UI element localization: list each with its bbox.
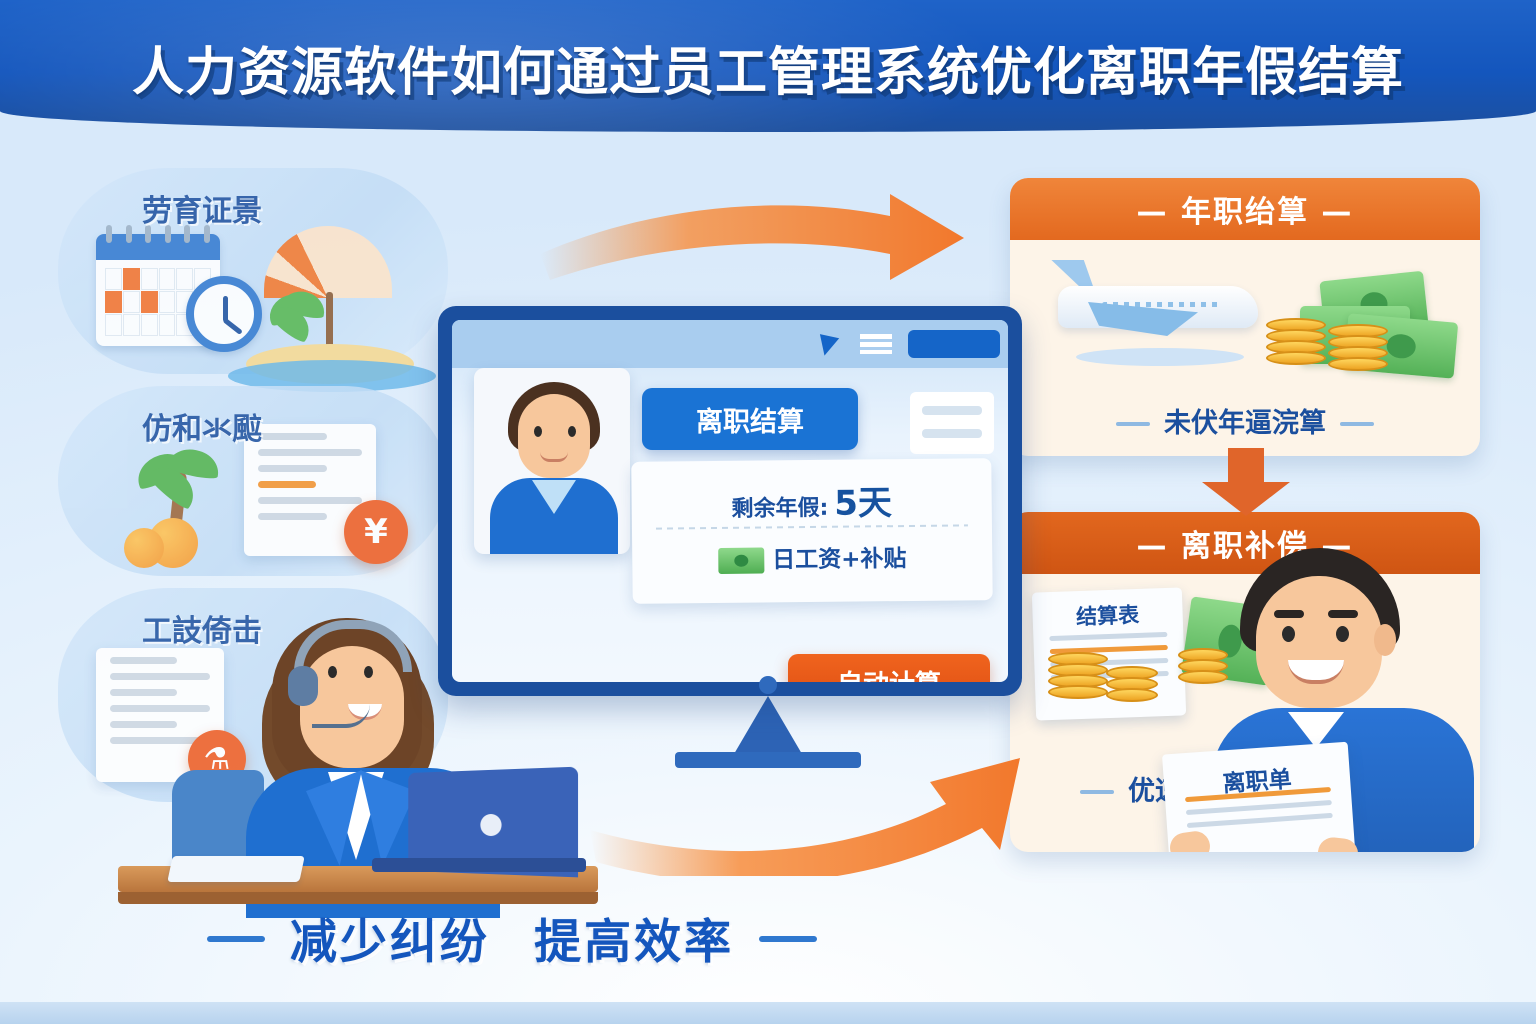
arrow-left-to-right-top [540,176,970,306]
banner-dash-right [759,936,817,942]
remaining-leave-row: 剩余年假:5天 [631,474,991,527]
auto-calculate-button[interactable]: 自动计算 [788,654,990,682]
monitor-neck [734,696,802,754]
coin-stack-icon [1106,666,1158,720]
remaining-leave-value: 5天 [834,483,892,524]
formula-row: 日工资+补贴 [632,538,992,576]
left-item-2[interactable]: 仿和氺䬃 ¥ [58,386,448,576]
right-card-top-body: 未伏年逼浣筸 [1010,240,1480,456]
yuan-badge-icon: ¥ [344,500,408,564]
banner-text-a: 减少纠纷 [290,903,490,972]
formula-text: 日工资+补贴 [772,546,907,573]
coin-stack-icon [1266,318,1326,372]
monitor: 离职结算 剩余年假:5天 日工资+补贴 自动计算 [438,306,1022,696]
coin-stack-icon [1048,652,1108,706]
laptop-base [372,858,586,872]
screen-chip-title: 离职结算 [642,388,858,450]
coin-stack-icon [1328,324,1388,378]
infographic-canvas: 人力资源软件如何通过员工管理系统优化离职年假结算 劳育证景 [0,0,1536,1024]
monitor-screen: 离职结算 剩余年假:5天 日工资+补贴 自动计算 [452,320,1008,682]
palm-orange-icon [118,446,238,566]
side-placeholder-card [910,392,994,454]
left-item-2-label: 仿和氺䬃 [142,404,262,448]
beach-umbrella-icon [264,226,392,298]
right-card-top-caption-text: 未伏年逼浣筸 [1164,408,1326,439]
bottom-edge-band [0,1002,1536,1024]
arrow-between-right-cards [1196,448,1296,518]
resignation-paper-title: 离职单 [1163,756,1351,803]
smiling-man-icon: 离职单 [1186,542,1480,852]
right-card-top-header: — 年职绐筸 — [1010,178,1480,240]
cash-banknote-icon [718,548,764,574]
app-toolbar [452,320,1008,368]
left-item-1[interactable]: 劳育证景 [58,168,448,374]
right-card-severance[interactable]: — 离职补偿 — 结算表 优速结算 [1010,512,1480,852]
hamburger-menu-icon[interactable] [860,334,892,354]
toolbar-pill-button[interactable] [908,330,1000,358]
page-title: 人力资源软件如何通过员工管理系统优化离职年假结算 [0,30,1536,105]
settlement-info-card: 剩余年假:5天 日工资+补贴 [631,458,992,604]
clock-icon [186,276,262,352]
banner-dash-left [207,936,265,942]
notebook [167,856,305,882]
left-item-1-label: 劳育证景 [142,186,262,230]
bottom-banner: 减少纠纷 提高效率 [0,903,1024,972]
remaining-leave-label: 剩余年假: [731,496,828,522]
right-card-top-caption: 未伏年逼浣筸 [1010,401,1480,440]
employee-avatar [474,368,630,554]
monitor-base [675,752,861,768]
banner-text-b: 提高效率 [534,903,734,972]
settlement-doc-title: 结算表 [1032,597,1183,632]
monitor-indicator-dot [759,676,777,694]
cursor-arrow-icon[interactable] [820,330,842,355]
right-card-bottom-body: 结算表 优速结算 [1010,574,1480,852]
monitor-frame: 离职结算 剩余年假:5天 日工资+补贴 自动计算 [438,306,1022,696]
right-card-annual-leave[interactable]: — 年职绐筸 — 未伏年逼浣筸 [1010,178,1480,456]
